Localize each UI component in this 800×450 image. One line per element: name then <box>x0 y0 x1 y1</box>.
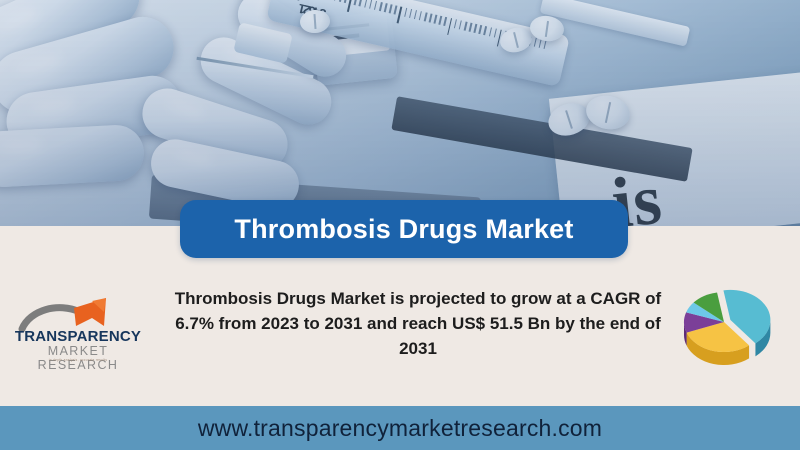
website-url[interactable]: www.transparencymarketresearch.com <box>198 415 602 442</box>
company-logo[interactable]: TRANSPARENCY MARKET RESEARCH in depth an… <box>14 296 142 368</box>
pie-chart <box>668 276 788 380</box>
hero-blue-tint <box>0 0 800 226</box>
title-badge: Thrombosis Drugs Market <box>180 200 628 258</box>
market-research-banner: 12345 is Thrombosis Drugs Market TRANSPA… <box>0 0 800 450</box>
footer-bar: www.transparencymarketresearch.com <box>0 406 800 450</box>
logo-primary-text: TRANSPARENCY <box>14 328 142 345</box>
pie-chart-svg <box>668 276 788 380</box>
page-title: Thrombosis Drugs Market <box>234 214 573 245</box>
hero-photo: 12345 is <box>0 0 800 226</box>
logo-tagline: in depth analysis, accurate results <box>14 358 142 362</box>
market-summary-text: Thrombosis Drugs Market is projected to … <box>160 286 676 361</box>
